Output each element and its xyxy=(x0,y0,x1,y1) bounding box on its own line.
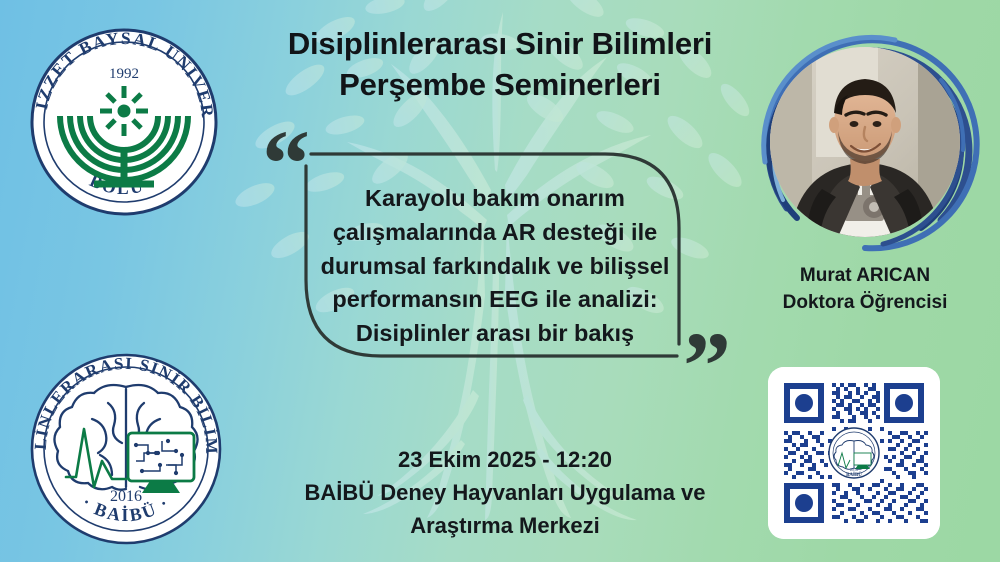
speaker-name: Murat ARICAN xyxy=(740,263,990,290)
event-venue-line-1: BAİBÜ Deney Hayvanları Uygulama ve xyxy=(255,476,755,509)
seminar-poster: ABANT IZZET BAYSAL ÜNİVERSİTESİ BOLU · 1… xyxy=(0,0,1000,562)
quote-line-1: Karayolu bakım onarım xyxy=(290,182,700,216)
neuroscience-logo: DİSİPLİNLERARASI SİNİR BİLİMLERİ · BAİBÜ… xyxy=(22,345,230,553)
speaker-role: Doktora Öğrencisi xyxy=(740,290,990,317)
title-line-2: Perşembe Seminerleri xyxy=(240,65,760,106)
event-venue-line-2: Araştırma Merkezi xyxy=(255,509,755,542)
quote-line-2: çalışmalarında AR desteği ile xyxy=(290,216,700,250)
speaker-photo xyxy=(753,30,977,254)
svg-text:2016: 2016 xyxy=(850,467,858,472)
event-info: 23 Ekim 2025 - 12:20 BAİBÜ Deney Hayvanl… xyxy=(255,443,755,542)
svg-text:1992: 1992 xyxy=(109,66,139,82)
quote-line-5: Disiplinler arası bir bakış xyxy=(290,317,700,351)
svg-text:2016: 2016 xyxy=(110,488,142,505)
quote-text: Karayolu bakım onarım çalışmalarında AR … xyxy=(290,182,700,351)
university-logo: ABANT IZZET BAYSAL ÜNİVERSİTESİ BOLU · 1… xyxy=(22,20,226,224)
page-title: Disiplinlerarası Sinir Bilimleri Perşemb… xyxy=(240,24,760,106)
speaker-portrait-image xyxy=(770,47,960,237)
speaker-info: Murat ARICAN Doktora Öğrencisi xyxy=(740,263,990,317)
quote-line-4: performansın EEG ile analizi: xyxy=(290,283,700,317)
svg-text:BAİBÜ: BAİBÜ xyxy=(846,472,862,478)
title-line-1: Disiplinlerarası Sinir Bilimleri xyxy=(240,24,760,65)
qr-code[interactable]: 2016 BAİBÜ xyxy=(768,367,940,539)
quote-line-3: durumsal farkındalık ve bilişsel xyxy=(290,250,700,284)
event-date-time: 23 Ekim 2025 - 12:20 xyxy=(255,443,755,476)
